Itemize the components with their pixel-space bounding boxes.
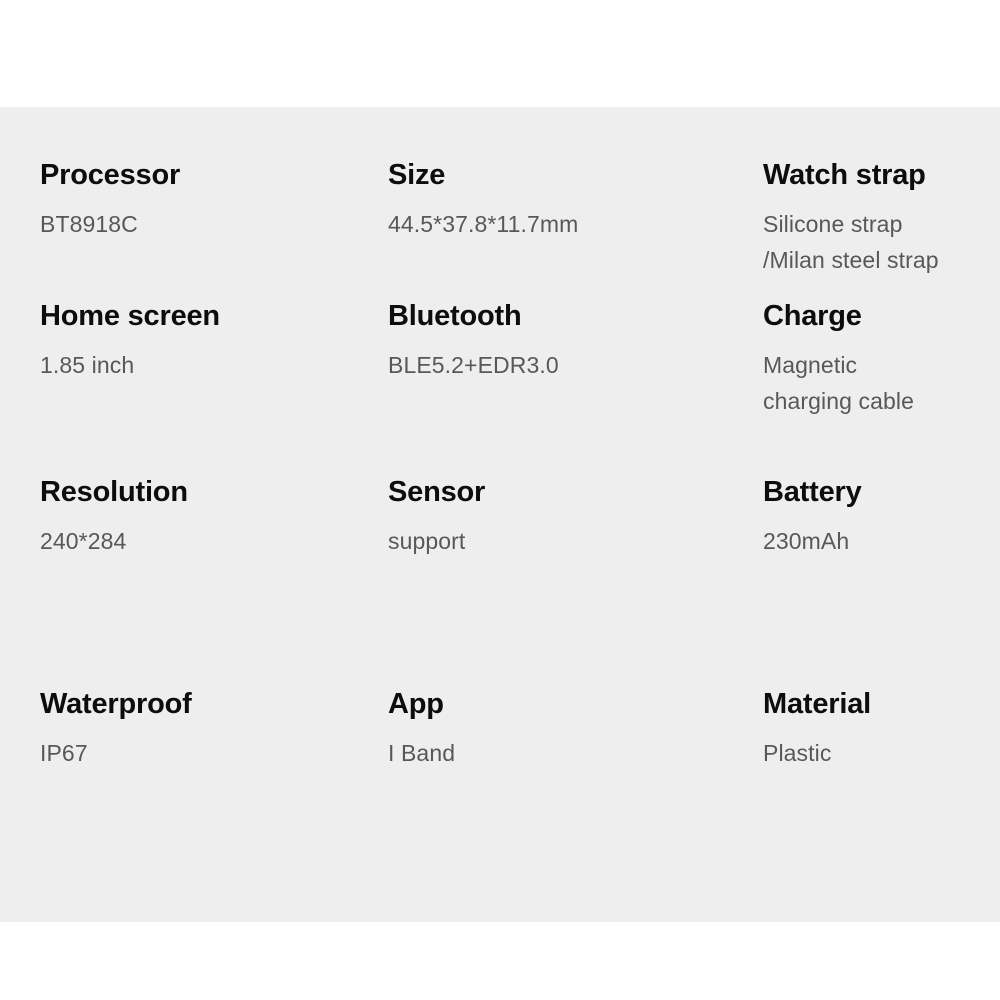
spec-label: Watch strap (763, 157, 1000, 193)
spec-label: Resolution (40, 474, 370, 510)
spec-panel: Processor BT8918C Size 44.5*37.8*11.7mm … (0, 107, 1000, 922)
spec-value: BT8918C (40, 206, 370, 242)
spec-item-sensor: Sensor support (388, 474, 738, 559)
spec-label: Waterproof (40, 686, 370, 722)
spec-item-waterproof: Waterproof IP67 (40, 686, 370, 771)
spec-value: 240*284 (40, 523, 370, 559)
spec-value: Magnetic charging cable (763, 347, 1000, 419)
spec-item-processor: Processor BT8918C (40, 157, 370, 242)
spec-value: Plastic (763, 735, 1000, 771)
spec-value: BLE5.2+EDR3.0 (388, 347, 738, 383)
spec-item-home-screen: Home screen 1.85 inch (40, 298, 370, 383)
spec-label: Size (388, 157, 738, 193)
spec-item-charge: Charge Magnetic charging cable (763, 298, 1000, 419)
spec-label: Bluetooth (388, 298, 738, 334)
spec-item-bluetooth: Bluetooth BLE5.2+EDR3.0 (388, 298, 738, 383)
spec-label: Battery (763, 474, 1000, 510)
spec-label: Material (763, 686, 1000, 722)
spec-sheet-page: Processor BT8918C Size 44.5*37.8*11.7mm … (0, 0, 1000, 1000)
spec-value: 44.5*37.8*11.7mm (388, 206, 738, 242)
spec-value: 1.85 inch (40, 347, 370, 383)
spec-value: Silicone strap /Milan steel strap (763, 206, 1000, 278)
spec-value: support (388, 523, 738, 559)
spec-label: Charge (763, 298, 1000, 334)
spec-label: App (388, 686, 738, 722)
spec-value: I Band (388, 735, 738, 771)
spec-value: IP67 (40, 735, 370, 771)
spec-label: Processor (40, 157, 370, 193)
spec-item-battery: Battery 230mAh (763, 474, 1000, 559)
spec-item-size: Size 44.5*37.8*11.7mm (388, 157, 738, 242)
spec-value: 230mAh (763, 523, 1000, 559)
spec-label: Sensor (388, 474, 738, 510)
spec-item-watch-strap: Watch strap Silicone strap /Milan steel … (763, 157, 1000, 278)
spec-label: Home screen (40, 298, 370, 334)
spec-item-app: App I Band (388, 686, 738, 771)
spec-item-resolution: Resolution 240*284 (40, 474, 370, 559)
spec-item-material: Material Plastic (763, 686, 1000, 771)
